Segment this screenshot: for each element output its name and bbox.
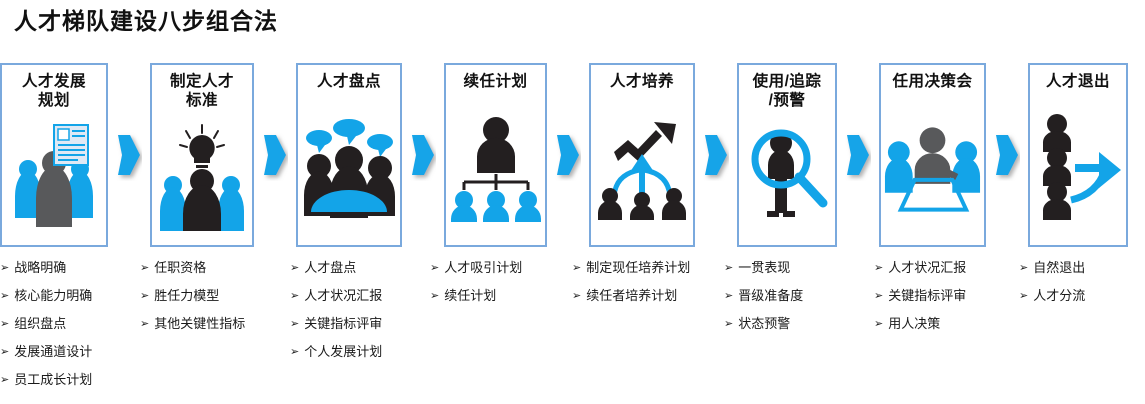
list-item-label: 一贯表现 (738, 260, 790, 275)
people-document-icon (2, 110, 106, 245)
process-step-4: 续任计划 (444, 62, 589, 247)
people-speech-bubbles-icon (298, 91, 400, 245)
flow-arrow-6 (837, 129, 879, 181)
step-card-8[interactable]: 人才退出 (1028, 63, 1128, 247)
list-item-label: 制定现任培养计划 (586, 260, 690, 275)
infographic-page: 人才梯队建设八步组合法 人才发展 规划 制定人才 标准 (0, 0, 1145, 404)
step-card-4[interactable]: 续任计划 (444, 63, 547, 247)
list-item-label: 人才状况汇报 (888, 260, 966, 275)
list-item-label: 用人决策 (888, 316, 940, 331)
list-item-label: 关键指标评审 (888, 288, 966, 303)
chevron-right-icon: ➢ (724, 316, 733, 331)
list-item-label: 状态预警 (738, 316, 790, 331)
list-item: ➢续任计划 (430, 288, 572, 303)
list-item-label: 个人发展计划 (304, 344, 382, 359)
step-card-title: 续任计划 (463, 72, 527, 91)
people-exit-arrow-icon (1030, 91, 1126, 245)
list-item: ➢员工成长计划 (0, 372, 140, 387)
bullet-list-8: ➢自然退出➢人才分流 (1019, 258, 1139, 404)
flow-arrow-1 (108, 129, 150, 181)
list-item-label: 人才分流 (1033, 288, 1085, 303)
step-card-3[interactable]: 人才盘点 (296, 63, 402, 247)
list-item-label: 组织盘点 (14, 316, 66, 331)
flow-arrow-right (555, 129, 581, 181)
list-item: ➢续任者培养计划 (572, 288, 724, 303)
bullet-list-3: ➢人才盘点➢人才状况汇报➢关键指标评审➢个人发展计划 (290, 258, 430, 404)
chevron-right-icon: ➢ (290, 344, 299, 359)
growth-arrow-people-icon (591, 91, 693, 245)
flow-arrow-right (845, 129, 871, 181)
flow-arrow-right (116, 129, 142, 181)
step-card-title: 人才发展 规划 (22, 72, 86, 110)
flow-arrow-7 (986, 129, 1028, 181)
step-card-title: 人才退出 (1046, 72, 1110, 91)
meeting-table-icon (881, 91, 984, 245)
list-item-label: 自然退出 (1033, 260, 1085, 275)
step-card-title: 制定人才 标准 (170, 72, 234, 110)
list-item-label: 人才盘点 (304, 260, 356, 275)
list-item: ➢组织盘点 (0, 316, 140, 331)
chevron-right-icon: ➢ (0, 288, 9, 303)
flow-arrow-3 (402, 129, 444, 181)
chevron-right-icon: ➢ (0, 260, 9, 275)
list-item: ➢人才吸引计划 (430, 260, 572, 275)
step-card-title: 使用/追踪 /预警 (753, 72, 822, 110)
chevron-right-icon: ➢ (1019, 260, 1028, 275)
bullet-list-2: ➢任职资格➢胜任力模型➢其他关键性指标 (140, 258, 290, 404)
flow-arrow-right (262, 129, 288, 181)
list-item: ➢发展通道设计 (0, 344, 140, 359)
step-card-5[interactable]: 人才培养 (589, 63, 695, 247)
list-item: ➢一贯表现 (724, 260, 874, 275)
org-chart-people-icon (446, 91, 545, 245)
chevron-right-icon: ➢ (430, 260, 439, 275)
list-item-label: 续任计划 (444, 288, 496, 303)
process-step-8: 人才退出 (1028, 62, 1128, 247)
flow-arrow-2 (254, 129, 296, 181)
chevron-right-icon: ➢ (290, 316, 299, 331)
list-item: ➢其他关键性指标 (140, 316, 290, 331)
process-step-2: 制定人才 标准 (150, 62, 296, 247)
flow-arrow-right (703, 129, 729, 181)
chevron-right-icon: ➢ (430, 288, 439, 303)
bullet-list-6: ➢一贯表现➢晋级准备度➢状态预警 (724, 258, 874, 404)
bullet-list-5: ➢制定现任培养计划➢续任者培养计划 (572, 258, 724, 404)
list-item-label: 其他关键性指标 (154, 316, 245, 331)
chevron-right-icon: ➢ (874, 288, 883, 303)
list-item-label: 发展通道设计 (14, 344, 92, 359)
lightbulb-people-icon (152, 110, 252, 245)
list-item-label: 人才状况汇报 (304, 288, 382, 303)
list-item: ➢自然退出 (1019, 260, 1139, 275)
step-card-title: 人才培养 (610, 72, 674, 91)
list-item: ➢状态预警 (724, 316, 874, 331)
chevron-right-icon: ➢ (290, 260, 299, 275)
process-step-6: 使用/追踪 /预警 (737, 62, 879, 247)
flow-arrow-right (410, 129, 436, 181)
process-flow-row: 人才发展 规划 制定人才 标准 (0, 62, 1145, 247)
chevron-right-icon: ➢ (140, 316, 149, 331)
bullet-list-1: ➢战略明确➢核心能力明确➢组织盘点➢发展通道设计➢员工成长计划 (0, 258, 140, 404)
bullet-list-7: ➢人才状况汇报➢关键指标评审➢用人决策 (874, 258, 1019, 404)
chevron-right-icon: ➢ (572, 288, 581, 303)
list-item: ➢制定现任培养计划 (572, 260, 724, 275)
step-card-1[interactable]: 人才发展 规划 (0, 63, 108, 247)
list-item-label: 胜任力模型 (154, 288, 219, 303)
bullet-lists-row: ➢战略明确➢核心能力明确➢组织盘点➢发展通道设计➢员工成长计划➢任职资格➢胜任力… (0, 258, 1145, 404)
step-card-6[interactable]: 使用/追踪 /预警 (737, 63, 837, 247)
page-title: 人才梯队建设八步组合法 (14, 6, 278, 36)
bullet-list-4: ➢人才吸引计划➢续任计划 (430, 258, 572, 404)
list-item-label: 人才吸引计划 (444, 260, 522, 275)
chevron-right-icon: ➢ (572, 260, 581, 275)
list-item: ➢人才状况汇报 (874, 260, 1019, 275)
list-item: ➢个人发展计划 (290, 344, 430, 359)
list-item-label: 晋级准备度 (738, 288, 803, 303)
chevron-right-icon: ➢ (290, 288, 299, 303)
step-card-title: 人才盘点 (317, 72, 381, 91)
flow-arrow-5 (695, 129, 737, 181)
list-item-label: 任职资格 (154, 260, 206, 275)
process-step-1: 人才发展 规划 (0, 62, 150, 247)
magnifier-person-icon (739, 110, 835, 245)
chevron-right-icon: ➢ (140, 288, 149, 303)
chevron-right-icon: ➢ (724, 288, 733, 303)
chevron-right-icon: ➢ (0, 316, 9, 331)
process-step-7: 任用决策会 (879, 62, 1028, 247)
list-item: ➢战略明确 (0, 260, 140, 275)
list-item: ➢用人决策 (874, 316, 1019, 331)
list-item: ➢晋级准备度 (724, 288, 874, 303)
chevron-right-icon: ➢ (140, 260, 149, 275)
list-item-label: 员工成长计划 (14, 372, 92, 387)
flow-arrow-right (994, 129, 1020, 181)
process-step-3: 人才盘点 (296, 62, 444, 247)
list-item-label: 关键指标评审 (304, 316, 382, 331)
list-item-label: 战略明确 (14, 260, 66, 275)
chevron-right-icon: ➢ (724, 260, 733, 275)
list-item: ➢胜任力模型 (140, 288, 290, 303)
step-card-7[interactable]: 任用决策会 (879, 63, 986, 247)
list-item: ➢关键指标评审 (290, 316, 430, 331)
list-item: ➢核心能力明确 (0, 288, 140, 303)
list-item-label: 核心能力明确 (14, 288, 92, 303)
list-item: ➢人才盘点 (290, 260, 430, 275)
chevron-right-icon: ➢ (0, 372, 9, 387)
list-item-label: 续任者培养计划 (586, 288, 677, 303)
list-item: ➢关键指标评审 (874, 288, 1019, 303)
list-item: ➢人才状况汇报 (290, 288, 430, 303)
flow-arrow-4 (547, 129, 589, 181)
process-step-5: 人才培养 (589, 62, 737, 247)
chevron-right-icon: ➢ (1019, 288, 1028, 303)
list-item: ➢任职资格 (140, 260, 290, 275)
chevron-right-icon: ➢ (874, 316, 883, 331)
chevron-right-icon: ➢ (874, 260, 883, 275)
step-card-title: 任用决策会 (892, 72, 972, 91)
step-card-2[interactable]: 制定人才 标准 (150, 63, 254, 247)
list-item: ➢人才分流 (1019, 288, 1139, 303)
chevron-right-icon: ➢ (0, 344, 9, 359)
